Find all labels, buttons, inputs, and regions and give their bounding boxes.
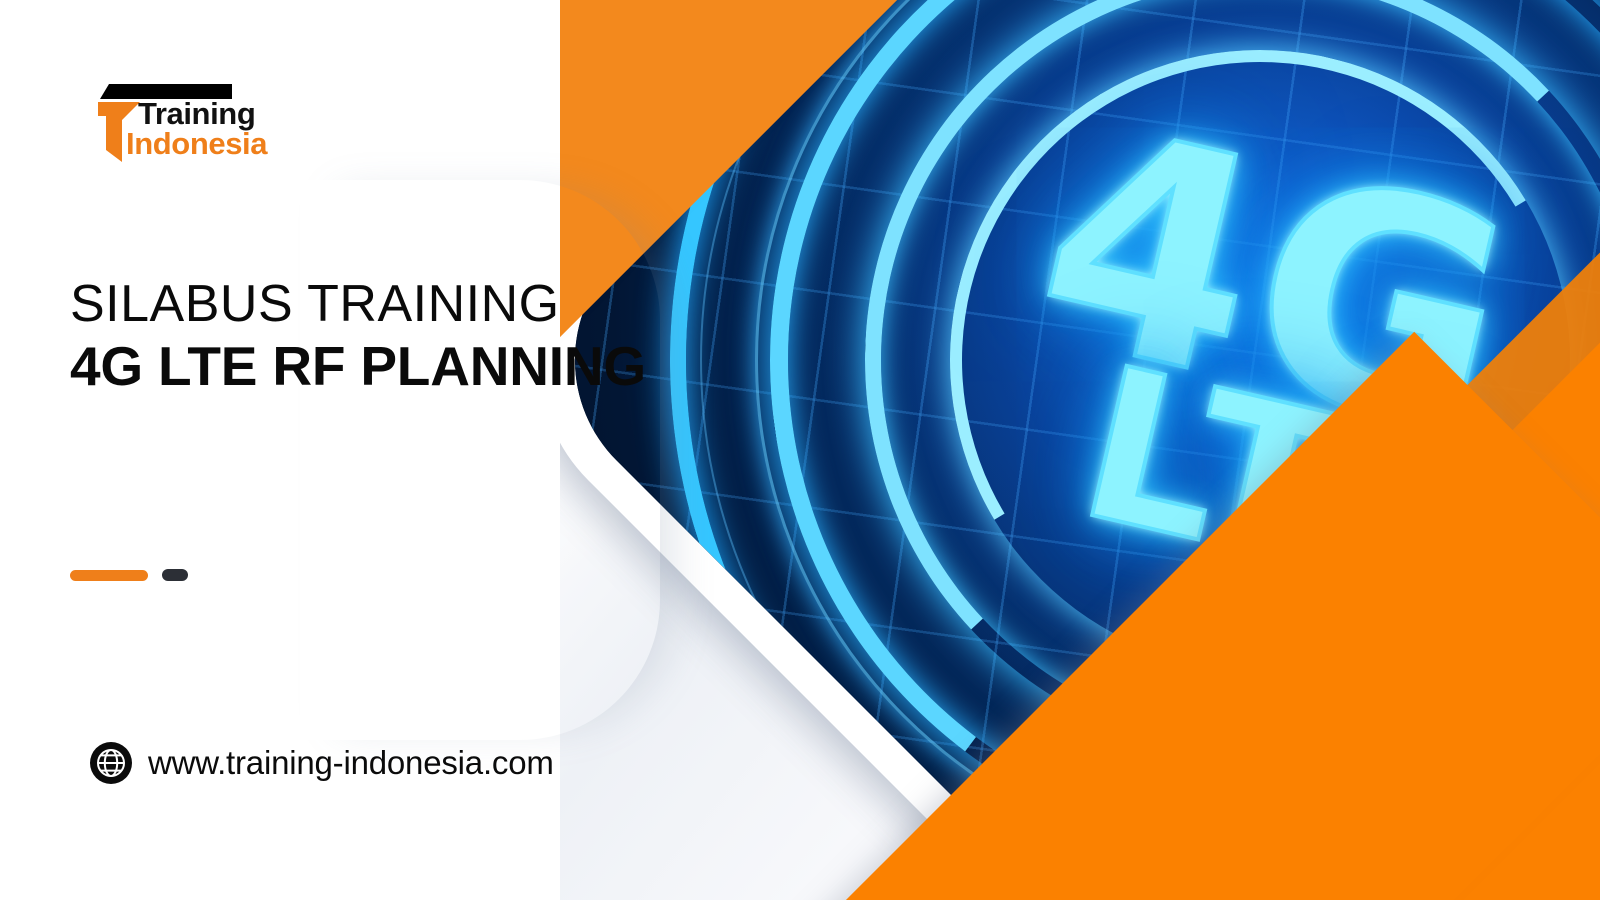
poster-canvas: 4G LTE Training Indonesia SILABUS TRAINI… <box>0 0 1600 900</box>
headline-block: SILABUS TRAINING 4G LTE RF PLANNING <box>70 278 646 396</box>
divider-short-dash <box>162 569 188 581</box>
chevron-shadow <box>300 180 660 740</box>
brand-logo[interactable]: Training Indonesia <box>76 84 336 168</box>
globe-icon <box>90 742 132 784</box>
website-footer[interactable]: www.training-indonesia.com <box>90 742 554 784</box>
website-url-text: www.training-indonesia.com <box>148 744 554 782</box>
logo-text-indonesia: Indonesia <box>126 126 267 162</box>
divider-long-dash <box>70 570 148 581</box>
decorative-divider <box>70 569 188 581</box>
headline-line-1: SILABUS TRAINING <box>70 278 646 331</box>
headline-line-2: 4G LTE RF PLANNING <box>70 337 646 396</box>
